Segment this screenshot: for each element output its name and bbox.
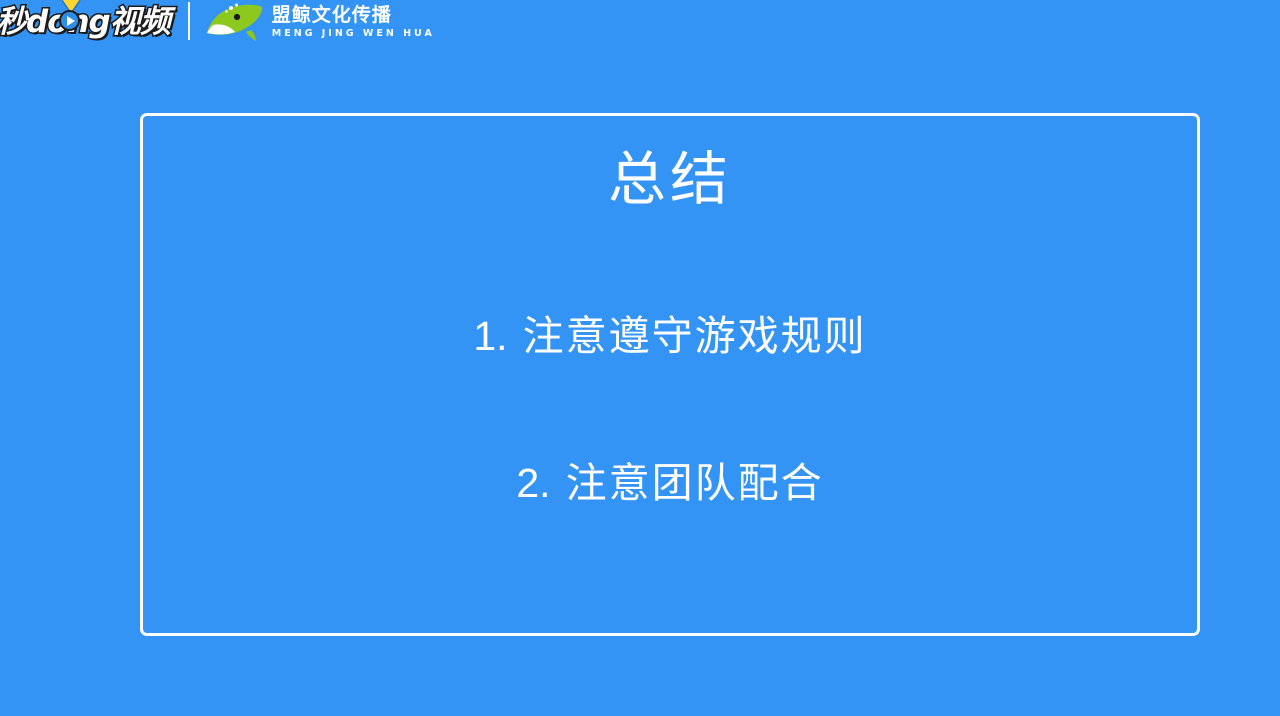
slide-bullet-list: 1. 注意遵守游戏规则 2. 注意团队配合	[143, 312, 1197, 508]
mengjing-logo-text-en: MENG JING WEN HUA	[272, 29, 435, 39]
logo-divider	[188, 2, 190, 40]
list-item-number: 2.	[516, 460, 550, 506]
list-item: 2. 注意团队配合	[143, 459, 1197, 508]
watermark-logo-bar: 秒dong视频 盟鲸文化传播 MENG J	[0, 0, 435, 46]
slide-title: 总结	[143, 150, 1197, 208]
mengjing-logo-text-cn: 盟鲸文化传播	[272, 6, 435, 25]
mengjing-culture-logo: 盟鲸文化传播 MENG JING WEN HUA	[204, 0, 435, 44]
play-triangle-icon	[59, 10, 80, 31]
list-item-label: 注意遵守游戏规则	[523, 312, 867, 360]
presentation-slide: 秒dong视频 盟鲸文化传播 MENG J	[0, 0, 1280, 716]
slide-content-frame: 总结 1. 注意遵守游戏规则 2. 注意团队配合	[140, 113, 1200, 636]
miaodong-logo-text: 秒dong视频	[0, 2, 170, 42]
miaodong-video-logo: 秒dong视频	[0, 0, 176, 44]
list-item-number: 1.	[473, 313, 507, 359]
list-item-label: 注意团队配合	[566, 459, 824, 507]
list-item: 1. 注意遵守游戏规则	[143, 312, 1197, 361]
green-whale-icon	[204, 2, 266, 42]
